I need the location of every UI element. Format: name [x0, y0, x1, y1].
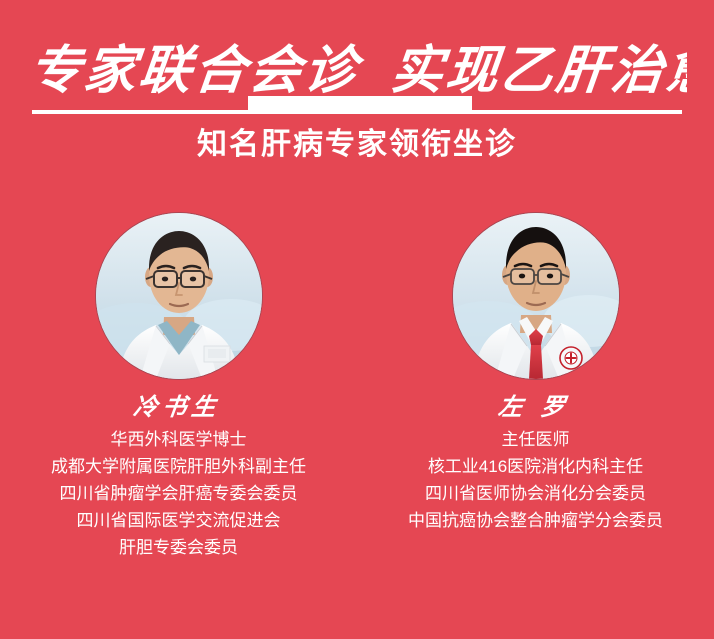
- headline-calligraphy: 专家联合会诊 实现乙肝治愈: [27, 34, 687, 104]
- credential-line: 核工业416医院消化内科主任: [357, 453, 714, 480]
- credential-line: 肝胆专委会委员: [0, 534, 357, 561]
- doctor-list: 冷书生 华西外科医学博士 成都大学附属医院肝胆外科副主任 四川省肿瘤学会肝癌专委…: [0, 205, 714, 639]
- headline: 专家联合会诊 实现乙肝治愈: [0, 34, 714, 104]
- doctor-right-name-wrap: 左 罗: [451, 391, 621, 421]
- credential-line: 四川省肿瘤学会肝癌专委会委员: [0, 480, 357, 507]
- credential-line: 中国抗癌协会整合肿瘤学分会委员: [357, 507, 714, 534]
- credential-line: 成都大学附属医院肝胆外科副主任: [0, 453, 357, 480]
- poster-root: 专家联合会诊 实现乙肝治愈 知名肝病专家领衔坐诊: [0, 0, 714, 639]
- credential-line: 华西外科医学博士: [0, 426, 357, 453]
- doctor-right-photo: [453, 213, 619, 379]
- doctor-left-name: 冷书生: [131, 392, 222, 421]
- doctor-right-name-calligraphy: 左 罗: [451, 391, 621, 421]
- doctor-right-name: 左 罗: [496, 392, 571, 421]
- doctor-left-portrait-image: [96, 213, 262, 379]
- header-subtitle: 知名肝病专家领衔坐诊: [0, 126, 714, 164]
- headline-part-2: 实现乙肝治愈: [388, 40, 687, 101]
- doctor-right-portrait-image: [453, 213, 619, 379]
- doctor-left-credentials: 华西外科医学博士 成都大学附属医院肝胆外科副主任 四川省肿瘤学会肝癌专委会委员 …: [0, 426, 357, 561]
- header-divider: [0, 96, 714, 118]
- doctor-left-name-wrap: 冷书生: [94, 391, 264, 421]
- hospital-emblem-icon: [560, 347, 582, 369]
- doctor-card-left: 冷书生 华西外科医学博士 成都大学附属医院肝胆外科副主任 四川省肿瘤学会肝癌专委…: [0, 205, 357, 639]
- credential-line: 主任医师: [357, 426, 714, 453]
- poster-header: 专家联合会诊 实现乙肝治愈 知名肝病专家领衔坐诊: [0, 0, 714, 185]
- headline-part-1: 专家联合会诊: [27, 40, 367, 101]
- doctor-left-photo: [96, 213, 262, 379]
- credential-line: 四川省医师协会消化分会委员: [357, 480, 714, 507]
- divider-block: [248, 96, 472, 110]
- doctor-card-right: 左 罗 主任医师 核工业416医院消化内科主任 四川省医师协会消化分会委员 中国…: [357, 205, 714, 639]
- divider-line: [32, 110, 682, 114]
- doctor-left-name-calligraphy: 冷书生: [94, 391, 264, 421]
- credential-line: 四川省国际医学交流促进会: [0, 507, 357, 534]
- doctor-right-credentials: 主任医师 核工业416医院消化内科主任 四川省医师协会消化分会委员 中国抗癌协会…: [357, 426, 714, 534]
